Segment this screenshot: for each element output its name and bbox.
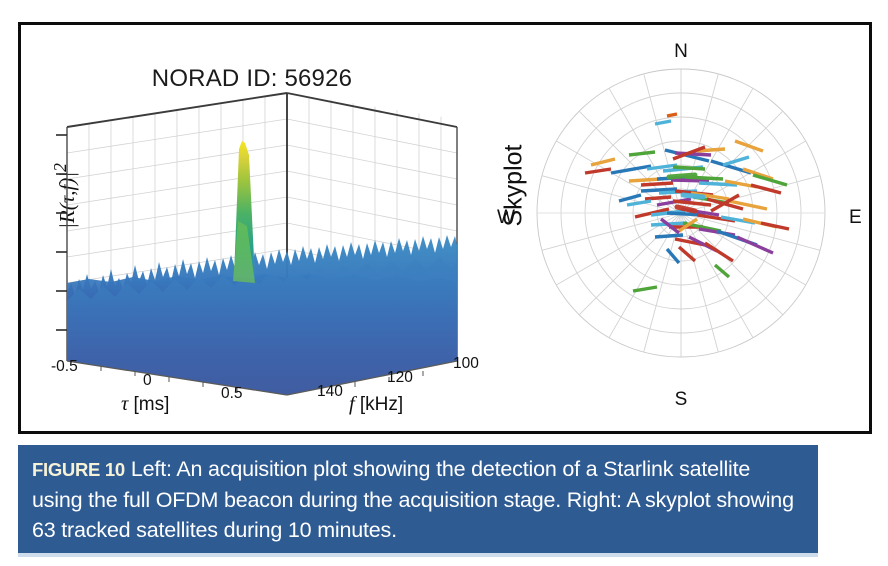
- figure-caption-body: Left: An acquisition plot showing the de…: [32, 457, 794, 542]
- figure-caption-band: FIGURE 10Left: An acquisition plot showi…: [18, 445, 818, 557]
- skyplot-polar-chart: [505, 65, 857, 395]
- acquisition-plot-panel: NORAD ID: 56926 |R(τ,f)|2: [29, 31, 475, 427]
- acquisition-ytick-1: 120: [387, 369, 413, 387]
- acquisition-y-axis-label: f [kHz]: [349, 393, 403, 416]
- figure-caption-text: FIGURE 10Left: An acquisition plot showi…: [32, 454, 804, 545]
- compass-label-north: N: [491, 41, 871, 63]
- acquisition-ytick-0: 140: [317, 383, 343, 401]
- acquisition-3d-surface: [29, 31, 475, 427]
- acquisition-xtick-0: -0.5: [51, 358, 78, 376]
- acquisition-ytick-2: 100: [453, 355, 479, 373]
- skyplot-panel: Skyplot N S W E: [491, 31, 871, 427]
- figure-number-label: FIGURE 10: [32, 459, 125, 480]
- figure-page: NORAD ID: 56926 |R(τ,f)|2: [0, 0, 888, 566]
- figure-frame: NORAD ID: 56926 |R(τ,f)|2: [18, 22, 872, 434]
- acquisition-xtick-2: 0.5: [221, 385, 243, 403]
- acquisition-xtick-1: 0: [143, 372, 152, 390]
- acquisition-x-axis-label: τ [ms]: [121, 393, 169, 416]
